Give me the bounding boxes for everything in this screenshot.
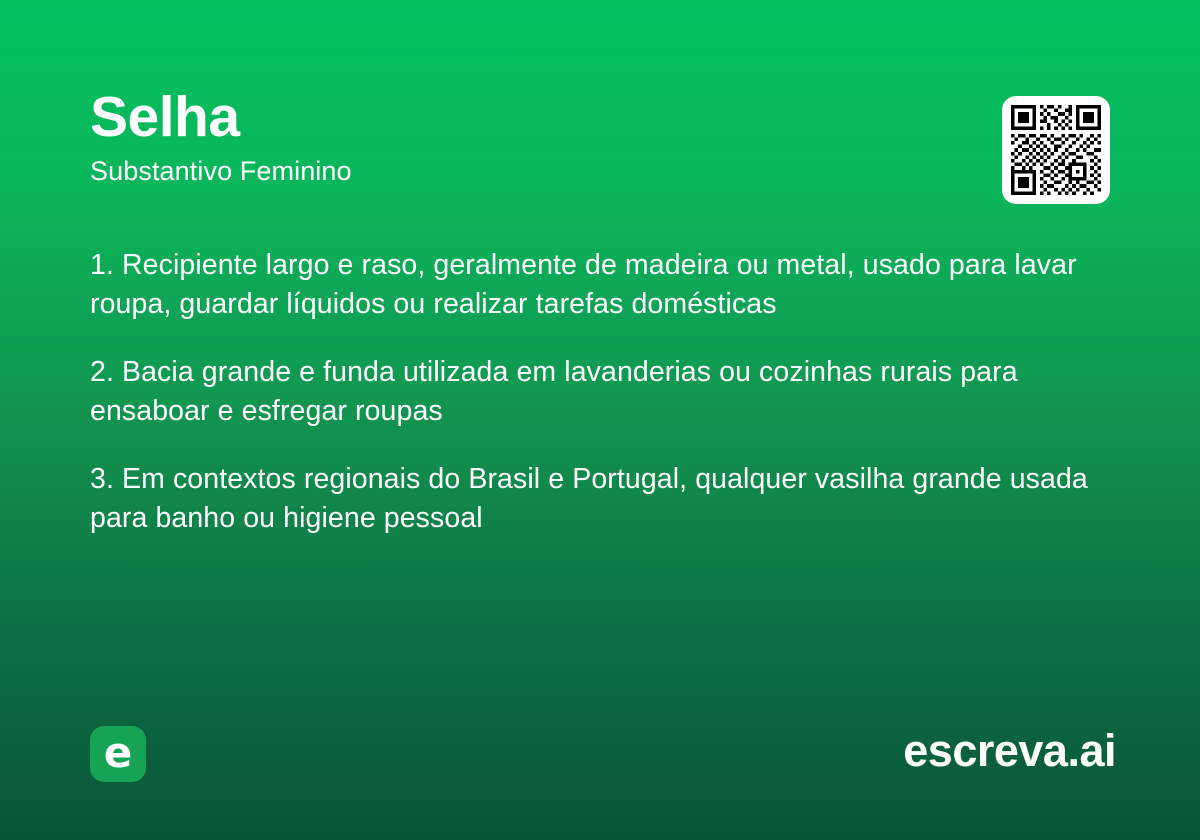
qr-code-matrix (1011, 105, 1101, 195)
list-item: 2. Bacia grande e funda utilizada em lav… (90, 353, 1100, 431)
definition-list: 1. Recipiente largo e raso, geralmente d… (90, 246, 1100, 538)
list-item: 1. Recipiente largo e raso, geralmente d… (90, 246, 1100, 324)
brand-wordmark: escreva.ai (903, 722, 1116, 780)
entry-header: Selha Substantivo Feminino (90, 84, 950, 188)
logo-badge[interactable]: e (90, 726, 146, 782)
logo-letter-e-icon: e (90, 726, 146, 782)
part-of-speech-label: Substantivo Feminino (90, 150, 950, 188)
qr-code-icon[interactable] (1002, 96, 1110, 204)
list-item: 3. Em contextos regionais do Brasil e Po… (90, 460, 1100, 538)
page-title: Selha (90, 84, 950, 150)
dictionary-card: Selha Substantivo Feminino (0, 0, 1200, 840)
